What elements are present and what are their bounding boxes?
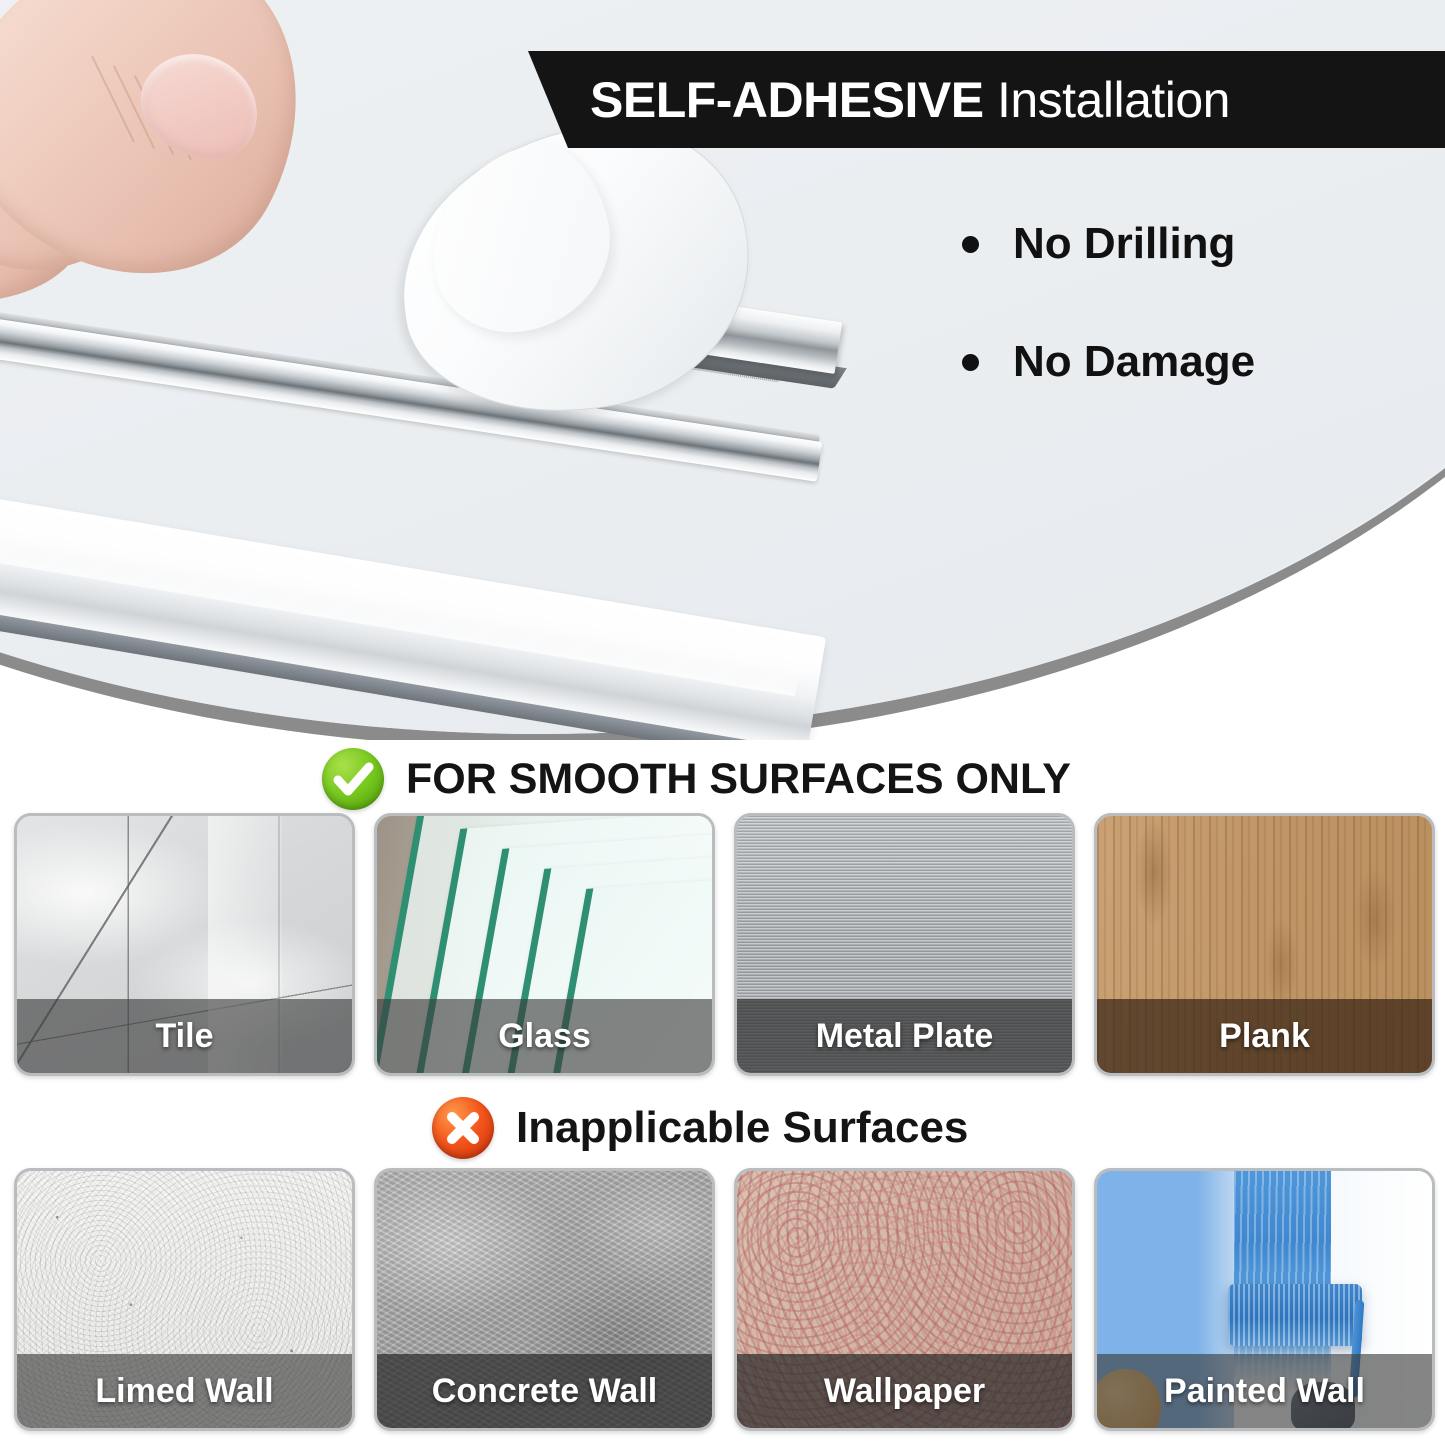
feature-item: No Damage — [962, 340, 1255, 384]
surface-card-painted-wall: Painted Wall — [1094, 1168, 1435, 1431]
feature-item: No Drilling — [962, 222, 1255, 266]
hand — [0, 0, 410, 400]
card-label: Glass — [498, 1019, 591, 1053]
paint-roller-icon — [1228, 1284, 1362, 1346]
card-caption: Glass — [377, 999, 712, 1073]
card-caption: Tile — [17, 999, 352, 1073]
card-label: Tile — [156, 1019, 214, 1053]
card-caption: Plank — [1097, 999, 1432, 1073]
card-label: Painted Wall — [1164, 1374, 1365, 1408]
banner-title-light: Installation — [984, 72, 1230, 128]
card-row-inapplicable: Limed Wall Concrete Wall Wallpaper Paint… — [14, 1168, 1435, 1431]
card-caption: Limed Wall — [17, 1354, 352, 1428]
card-label: Concrete Wall — [432, 1374, 657, 1408]
feature-list: No Drilling No Damage — [962, 222, 1255, 458]
banner-title-strong: SELF-ADHESIVE — [590, 72, 984, 128]
card-caption: Painted Wall — [1097, 1354, 1432, 1428]
card-label: Plank — [1219, 1019, 1310, 1053]
surface-card-tile: Tile — [14, 813, 355, 1076]
surface-card-concrete-wall: Concrete Wall — [374, 1168, 715, 1431]
banner: SELF-ADHESIVE Installation — [528, 51, 1445, 148]
section-header-inapplicable: Inapplicable Surfaces — [432, 1097, 968, 1159]
surface-card-glass: Glass — [374, 813, 715, 1076]
feature-label: No Drilling — [1013, 222, 1235, 266]
card-row-suitable: Tile Glass Metal Plate Plank — [14, 813, 1435, 1076]
feature-label: No Damage — [1013, 340, 1255, 384]
surface-card-plank: Plank — [1094, 813, 1435, 1076]
card-caption: Wallpaper — [737, 1354, 1072, 1428]
card-label: Wallpaper — [824, 1374, 985, 1408]
surface-card-limed-wall: Limed Wall — [14, 1168, 355, 1431]
cross-icon — [432, 1097, 494, 1159]
surface-card-metal-plate: Metal Plate — [734, 813, 1075, 1076]
finger-index — [0, 0, 358, 328]
card-caption: Metal Plate — [737, 999, 1072, 1073]
card-caption: Concrete Wall — [377, 1354, 712, 1428]
section-header-suitable: FOR SMOOTH SURFACES ONLY — [322, 748, 1071, 810]
card-label: Metal Plate — [816, 1019, 994, 1053]
card-label: Limed Wall — [95, 1374, 273, 1408]
check-icon — [322, 748, 384, 810]
banner-title: SELF-ADHESIVE Installation — [590, 75, 1230, 125]
section-title-inapplicable: Inapplicable Surfaces — [516, 1106, 968, 1150]
surface-card-wallpaper: Wallpaper — [734, 1168, 1075, 1431]
bullet-dot-icon — [962, 236, 979, 253]
bullet-dot-icon — [962, 354, 979, 371]
section-title-suitable: FOR SMOOTH SURFACES ONLY — [406, 758, 1071, 801]
